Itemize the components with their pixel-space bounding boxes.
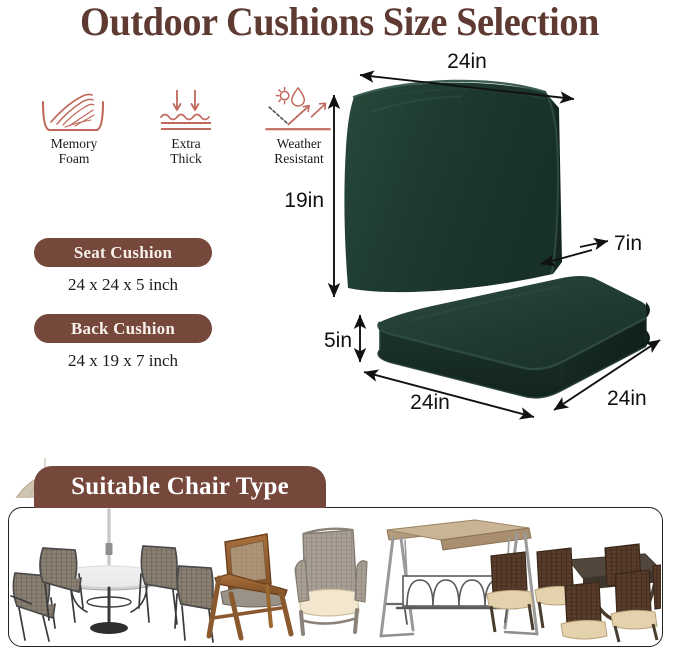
dimension-back-width: 24in [447, 52, 487, 73]
badge-back-cushion: Back Cushion [34, 314, 212, 343]
feature-label: Extra Thick [130, 136, 242, 166]
illustration-wooden-lounge-chair [209, 534, 291, 638]
dimension-seat-depth: 24in [607, 387, 647, 410]
dimension-back-height: 19in [284, 189, 324, 212]
suitable-chair-banner: Suitable Chair Type [34, 466, 326, 508]
cushion-diagram: 24in 19in 7in 5in 24in 24in [262, 52, 679, 432]
suitable-chair-panel [8, 507, 663, 647]
badge-back-cushion-dimensions: 24 x 19 x 7 inch [23, 351, 223, 371]
suitable-chair-section: Suitable Chair Type [0, 452, 679, 656]
illustration-patio-dining-set [11, 510, 215, 642]
feature-memory-foam: Memory Foam [18, 86, 130, 166]
dimension-seat-height: 5in [324, 329, 352, 352]
feature-extra-thick: Extra Thick [130, 86, 242, 166]
chair-type-illustrations [9, 508, 661, 645]
infographic-root: Outdoor Cushions Size Selection Memory F… [0, 0, 679, 656]
dimension-back-thickness: 7in [614, 232, 642, 255]
extra-thick-icon [151, 86, 221, 134]
feature-label: Memory Foam [18, 136, 130, 166]
page-title: Outdoor Cushions Size Selection [14, 0, 666, 45]
memory-foam-icon [35, 86, 113, 134]
badge-seat-cushion: Seat Cushion [34, 238, 212, 267]
badge-seat-cushion-dimensions: 24 x 24 x 5 inch [23, 275, 223, 295]
illustration-wicker-dining-set [487, 544, 661, 642]
illustration-wicker-armchair [295, 529, 367, 634]
dimension-seat-width: 24in [410, 391, 450, 414]
